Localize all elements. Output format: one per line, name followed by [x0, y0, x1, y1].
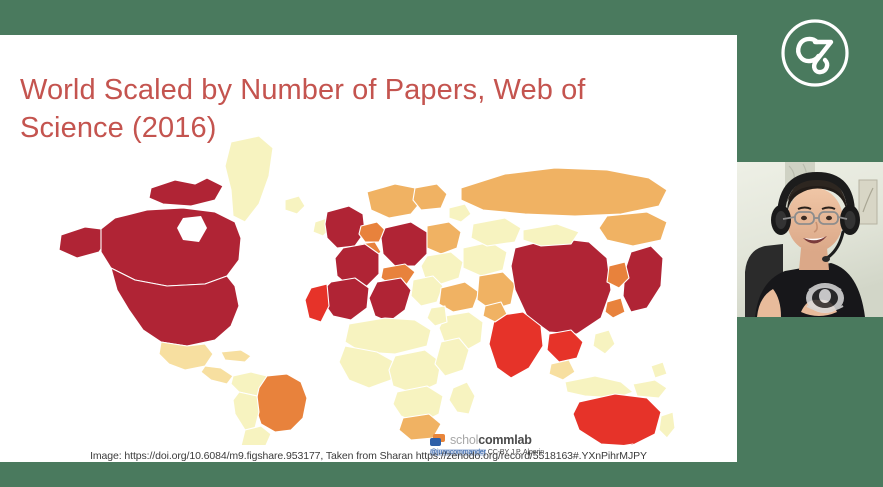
region-scandinavia — [367, 184, 421, 218]
region-balkans — [411, 276, 443, 306]
region-united-kingdom — [325, 206, 365, 248]
region-taiwan — [605, 298, 625, 318]
region-madagascar — [449, 382, 475, 414]
region-mongolia — [523, 224, 579, 246]
region-italy — [369, 278, 411, 322]
region-brazil — [255, 374, 307, 432]
region-canada-arctic — [149, 178, 223, 206]
region-east-africa — [435, 338, 469, 376]
watermark-name-light: schol — [450, 433, 478, 447]
region-germany — [381, 222, 427, 266]
watermark-name-bold: commlab — [478, 433, 531, 447]
region-iceland — [285, 196, 305, 214]
region-central-america — [201, 366, 233, 384]
region-australia — [573, 394, 661, 445]
region-kazakhstan — [471, 218, 521, 246]
region-spain — [323, 278, 369, 320]
region-caribbean — [221, 350, 251, 362]
region-poland — [427, 222, 461, 254]
region-new-zealand — [659, 412, 675, 438]
region-japan — [623, 246, 663, 312]
watermark-name: scholcommlab — [450, 433, 532, 447]
region-pacific-islands — [651, 362, 667, 378]
participant-video-tile[interactable] — [737, 162, 883, 317]
region-israel-levant — [427, 306, 447, 326]
czi-logo-icon — [779, 17, 851, 89]
czi-logo — [779, 17, 851, 89]
region-baltics — [449, 204, 471, 222]
region-philippines — [593, 330, 615, 354]
region-greenland — [225, 136, 273, 222]
region-central-asia — [463, 242, 507, 276]
region-finland — [413, 184, 447, 210]
region-thailand-malaysia — [549, 360, 575, 380]
region-new-guinea — [633, 380, 667, 398]
presentation-slide: World Scaled by Number of Papers, Web of… — [0, 35, 737, 462]
speech-bubbles-icon — [430, 434, 446, 447]
region-india — [489, 312, 543, 378]
region-southeast-asia — [547, 330, 583, 362]
region-russia — [461, 168, 667, 216]
meeting-screen: World Scaled by Number of Papers, Web of… — [0, 0, 883, 487]
region-alaska — [59, 227, 107, 258]
cartogram-svg — [55, 130, 675, 445]
region-central-africa — [389, 350, 441, 394]
slide-caption: Image: https://doi.org/10.6084/m9.figsha… — [0, 450, 737, 462]
world-cartogram — [55, 130, 675, 445]
region-portugal — [305, 284, 329, 322]
region-peru-bolivia — [233, 392, 259, 430]
region-russia-east — [599, 212, 667, 246]
participant-video-image — [737, 162, 883, 317]
